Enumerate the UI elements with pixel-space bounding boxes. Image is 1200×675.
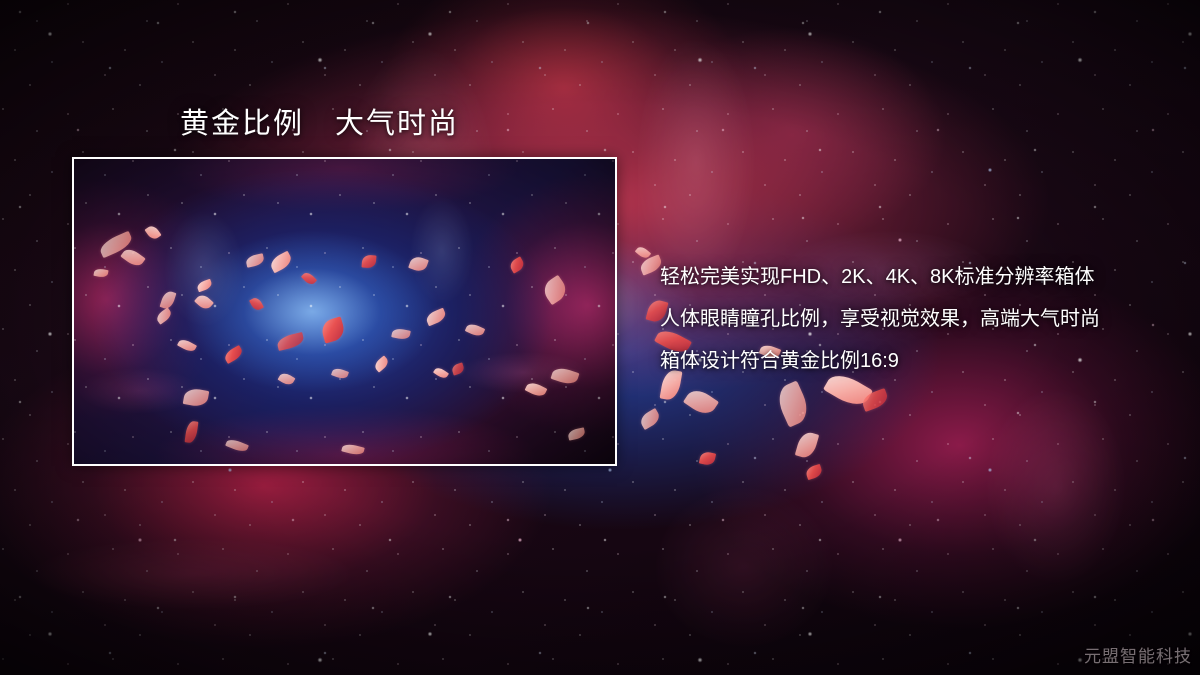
petal [196,279,213,293]
petal [465,322,486,338]
petal [795,430,819,460]
petal [268,251,294,274]
petal [120,246,145,269]
petal [177,337,197,353]
petal [638,408,662,430]
petal [93,268,108,278]
petal [508,256,526,273]
photo-nebula-wisps [74,159,615,464]
petal [540,275,571,306]
petal [635,245,652,261]
petal [155,307,174,324]
body-line-1: 轻松完美实现FHD、2K、4K、8K标准分辨率箱体 [660,256,1180,298]
petal [424,308,447,327]
petal [97,231,134,259]
petal [805,464,824,480]
petal [223,345,245,364]
petal [860,388,890,412]
petal [699,451,716,467]
petal [245,253,265,268]
petal [225,437,249,454]
photo-stars [74,159,615,464]
petal [249,296,264,312]
petal [451,362,466,375]
photo-frame [72,157,617,466]
petal [433,366,449,380]
petal [408,255,429,274]
petal [391,327,411,341]
slide-canvas: 黄金比例 大气时尚 轻松完美实现FHD、2K、4K、8K标准分辨率箱体 人体眼睛… [0,0,1200,675]
petal [773,380,813,427]
petal [567,427,586,440]
petal [361,254,376,268]
petal [276,332,305,351]
petal [683,385,719,418]
photo-vignette [74,159,615,464]
petal [373,355,391,372]
petal [194,292,214,312]
photo-nebula-base [74,159,615,464]
body-line-2: 人体眼睛瞳孔比例，享受视觉效果，高端大气时尚 [660,298,1180,340]
petal [301,270,317,286]
petal [183,387,210,408]
petal [160,290,177,311]
petal [144,224,161,242]
body-text-block: 轻松完美实现FHD、2K、4K、8K标准分辨率箱体 人体眼睛瞳孔比例，享受视觉效… [660,256,1180,382]
petal [525,380,548,399]
petal [341,442,365,456]
slide-title: 黄金比例 大气时尚 [180,100,459,142]
watermark-text: 元盟智能科技 [1084,642,1192,667]
petal [278,371,296,387]
photo-image [74,159,615,464]
body-line-3: 箱体设计符合黄金比例16:9 [660,340,1180,382]
petal [550,365,579,386]
petal [185,420,199,443]
petal [319,316,346,343]
petal [331,367,349,381]
